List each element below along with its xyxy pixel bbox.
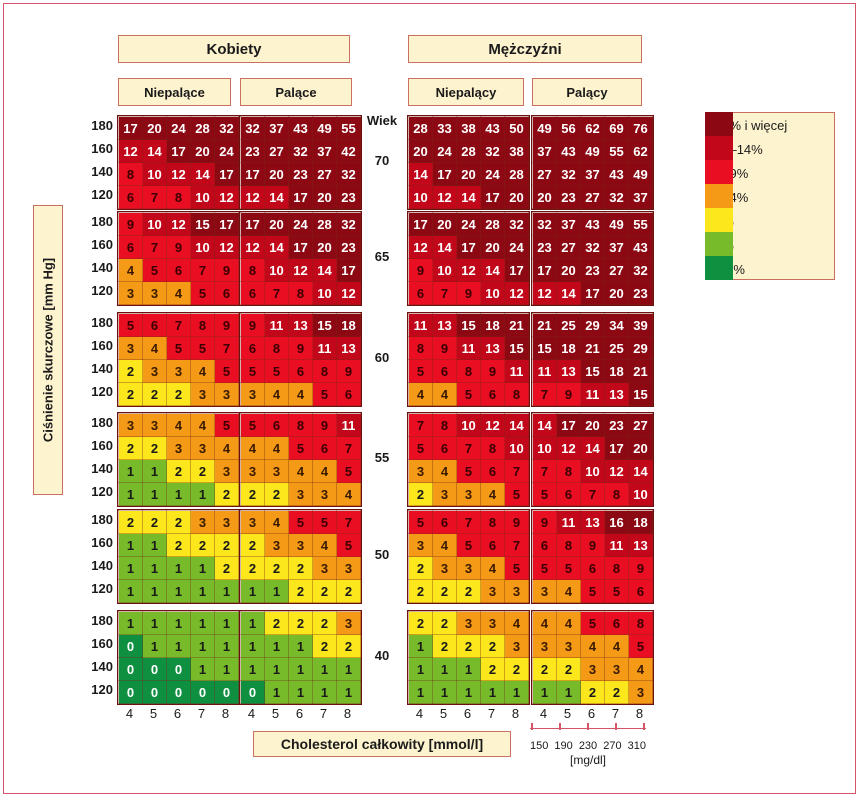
heatmap-row: 55689 [533, 557, 653, 580]
heatmap-cell: 0 [143, 681, 167, 704]
heatmap-cell: 2 [215, 483, 239, 506]
heatmap-cell: 7 [215, 337, 239, 360]
heatmap-cell: 10 [409, 186, 433, 209]
heatmap-row: 3237434955 [533, 213, 653, 236]
heatmap-cell: 14 [629, 460, 653, 483]
heatmap-cell: 2 [143, 383, 167, 406]
x-tick-6: 6 [166, 706, 189, 721]
heatmap-cell: 0 [167, 658, 191, 681]
heatmap-cell: 2 [119, 437, 143, 460]
heatmap-cell: 5 [337, 534, 361, 557]
heatmap-panel-men-smoking-age-50: 91113161868911135568934556 [531, 509, 654, 604]
legend-swatch-0 [705, 112, 733, 136]
heatmap-cell: 4 [265, 437, 289, 460]
heatmap-cell: 4 [581, 635, 605, 658]
heatmap-cell: 2 [167, 534, 191, 557]
x-tick-4: 4 [118, 706, 141, 721]
heatmap-cell: 12 [241, 186, 265, 209]
heatmap-cell: 27 [557, 236, 581, 259]
heatmap-cell: 5 [191, 337, 215, 360]
heatmap-cell: 2 [143, 511, 167, 534]
heatmap-cell: 6 [629, 580, 653, 603]
heatmap-cell: 4 [313, 460, 337, 483]
heatmap-cell: 1 [313, 658, 337, 681]
heatmap-cell: 0 [191, 681, 215, 704]
heatmap-cell: 5 [505, 557, 529, 580]
heatmap-cell: 7 [533, 383, 557, 406]
heatmap-cell: 8 [119, 163, 143, 186]
heatmap-cell: 6 [143, 314, 167, 337]
heatmap-cell: 4 [481, 557, 505, 580]
heatmap-row: 23345 [119, 360, 239, 383]
heatmap-row: 1720232732 [533, 259, 653, 282]
heatmap-cell: 27 [313, 163, 337, 186]
x-tick-6: 6 [580, 706, 603, 721]
heatmap-cell: 14 [581, 437, 605, 460]
heatmap-row: 6781012 [241, 282, 361, 305]
heatmap-cell: 10 [505, 437, 529, 460]
heatmap-cell: 5 [313, 383, 337, 406]
heatmap-cell: 6 [481, 534, 505, 557]
x-tick-5: 5 [142, 706, 165, 721]
heatmap-cell: 3 [289, 483, 313, 506]
y-tick-160: 160 [85, 636, 113, 651]
heatmap-cell: 1 [265, 580, 289, 603]
heatmap-cell: 9 [119, 213, 143, 236]
heatmap-cell: 5 [533, 557, 557, 580]
heatmap-cell: 6 [433, 437, 457, 460]
heatmap-cell: 5 [119, 314, 143, 337]
heatmap-cell: 1 [215, 635, 239, 658]
heatmap-cell: 8 [289, 282, 313, 305]
heatmap-cell: 1 [119, 557, 143, 580]
heatmap-cell: 8 [167, 186, 191, 209]
heatmap-cell: 3 [457, 483, 481, 506]
heatmap-cell: 1 [143, 483, 167, 506]
header-women: Kobiety [118, 35, 350, 63]
heatmap-cell: 2 [143, 437, 167, 460]
heatmap-cell: 62 [629, 140, 653, 163]
x-tick-7: 7 [312, 706, 335, 721]
x-tick-5: 5 [556, 706, 579, 721]
y-tick-140: 140 [85, 361, 113, 376]
heatmap-cell: 3 [605, 658, 629, 681]
heatmap-cell: 3 [313, 557, 337, 580]
heatmap-cell: 28 [505, 163, 529, 186]
heatmap-cell: 13 [481, 337, 505, 360]
heatmap-panel-men-nonsmoking-age-55: 781012145678103456723345 [407, 412, 530, 507]
heatmap-cell: 17 [167, 140, 191, 163]
heatmap-cell: 5 [605, 580, 629, 603]
heatmap-cell: 5 [409, 511, 433, 534]
heatmap-cell: 14 [409, 163, 433, 186]
heatmap-cell: 5 [241, 414, 265, 437]
heatmap-cell: 15 [533, 337, 557, 360]
heatmap-cell: 11 [533, 360, 557, 383]
heatmap-row: 1720242832 [119, 117, 239, 140]
heatmap-row: 1518212529 [533, 337, 653, 360]
heatmap-row: 1012141720 [409, 186, 529, 209]
heatmap-cell: 2 [215, 534, 239, 557]
heatmap-cell: 12 [409, 236, 433, 259]
heatmap-row: 23345 [409, 483, 529, 506]
heatmap-row: 44568 [409, 383, 529, 406]
heatmap-panel-women-nonsmoking-age-70: 172024283212141720248101214176781012 [117, 115, 240, 210]
heatmap-cell: 11 [605, 534, 629, 557]
heatmap-cell: 17 [289, 186, 313, 209]
heatmap-cell: 5 [505, 483, 529, 506]
heatmap-cell: 4 [265, 511, 289, 534]
heatmap-row: 22233 [241, 557, 361, 580]
heatmap-cell: 2 [265, 483, 289, 506]
heatmap-cell: 20 [557, 259, 581, 282]
heatmap-cell: 1 [409, 681, 433, 704]
heatmap-cell: 12 [167, 163, 191, 186]
heatmap-cell: 43 [289, 117, 313, 140]
heatmap-cell: 37 [581, 163, 605, 186]
heatmap-cell: 11 [265, 314, 289, 337]
heatmap-cell: 5 [629, 635, 653, 658]
heatmap-cell: 6 [481, 383, 505, 406]
heatmap-row: 910121417 [409, 259, 529, 282]
heatmap-cell: 27 [581, 186, 605, 209]
mgdl-tick-labels: 150190230270310 [530, 740, 646, 752]
age-label-50: 50 [363, 547, 401, 562]
y-tick-120: 120 [85, 581, 113, 596]
heatmap-cell: 7 [265, 282, 289, 305]
heatmap-cell: 28 [191, 117, 215, 140]
heatmap-cell: 3 [143, 360, 167, 383]
heatmap-cell: 13 [557, 360, 581, 383]
heatmap-cell: 3 [533, 635, 557, 658]
header-women-smoking: Palące [240, 78, 352, 106]
age-label-65: 65 [363, 249, 401, 264]
heatmap-cell: 3 [533, 580, 557, 603]
heatmap-cell: 8 [241, 259, 265, 282]
x-tick-4: 4 [240, 706, 263, 721]
y-tick-180: 180 [85, 214, 113, 229]
heatmap-cell: 2 [241, 483, 265, 506]
heatmap-cell: 10 [629, 483, 653, 506]
heatmap-row: 2327323743 [533, 236, 653, 259]
heatmap-cell: 6 [533, 534, 557, 557]
heatmap-row: 00011 [119, 658, 239, 681]
heatmap-cell: 17 [481, 186, 505, 209]
heatmap-cell: 2 [457, 580, 481, 603]
heatmap-row: 33456 [119, 282, 239, 305]
heatmap-panel-men-smoking-age-60: 21252934391518212529111315182179111315 [531, 312, 654, 407]
heatmap-cell: 13 [289, 314, 313, 337]
heatmap-cell: 32 [337, 213, 361, 236]
heatmap-cell: 18 [337, 314, 361, 337]
heatmap-cell: 28 [409, 117, 433, 140]
heatmap-cell: 17 [505, 259, 529, 282]
heatmap-cell: 17 [337, 259, 361, 282]
heatmap-cell: 10 [143, 163, 167, 186]
heatmap-cell: 24 [289, 213, 313, 236]
heatmap-cell: 43 [629, 236, 653, 259]
heatmap-cell: 2 [313, 580, 337, 603]
heatmap-cell: 6 [581, 557, 605, 580]
heatmap-cell: 3 [241, 460, 265, 483]
mgdl-tick-310: 310 [628, 740, 646, 752]
heatmap-cell: 11 [337, 414, 361, 437]
heatmap-cell: 11 [409, 314, 433, 337]
heatmap-cell: 23 [533, 236, 557, 259]
heatmap-cell: 33 [433, 117, 457, 140]
heatmap-cell: 8 [481, 511, 505, 534]
y-tick-140: 140 [85, 461, 113, 476]
heatmap-panel-men-smoking-age-40: 44568334452233411223 [531, 610, 654, 705]
heatmap-cell: 55 [337, 117, 361, 140]
heatmap-cell: 7 [143, 186, 167, 209]
heatmap-cell: 20 [605, 282, 629, 305]
heatmap-cell: 2 [241, 534, 265, 557]
heatmap-cell: 32 [337, 163, 361, 186]
heatmap-cell: 4 [629, 658, 653, 681]
heatmap-cell: 1 [167, 557, 191, 580]
header-men-nonsmoking: Niepalący [408, 78, 524, 106]
heatmap-cell: 9 [313, 414, 337, 437]
heatmap-cell: 23 [557, 186, 581, 209]
heatmap-cell: 2 [167, 460, 191, 483]
heatmap-row: 568911 [241, 414, 361, 437]
heatmap-cell: 6 [241, 282, 265, 305]
heatmap-cell: 5 [557, 557, 581, 580]
x-tick-7: 7 [604, 706, 627, 721]
heatmap-cell: 2 [337, 635, 361, 658]
heatmap-cell: 5 [457, 383, 481, 406]
heatmap-cell: 1 [143, 612, 167, 635]
heatmap-row: 1012141720 [533, 437, 653, 460]
heatmap-cell: 1 [409, 635, 433, 658]
heatmap-cell: 6 [215, 282, 239, 305]
heatmap-cell: 3 [581, 658, 605, 681]
heatmap-cell: 12 [119, 140, 143, 163]
heatmap-row: 2125293439 [533, 314, 653, 337]
heatmap-cell: 0 [241, 681, 265, 704]
heatmap-panel-men-nonsmoking-age-60: 11131518218911131556891144568 [407, 312, 530, 407]
heatmap-cell: 6 [337, 383, 361, 406]
heatmap-cell: 49 [605, 213, 629, 236]
y-tick-180: 180 [85, 613, 113, 628]
heatmap-cell: 7 [337, 437, 361, 460]
heatmap-row: 11122 [241, 635, 361, 658]
heatmap-row: 1214172023 [241, 236, 361, 259]
heatmap-cell: 7 [533, 460, 557, 483]
heatmap-row: 2833384350 [409, 117, 529, 140]
heatmap-row: 11122 [409, 658, 529, 681]
heatmap-row: 11223 [533, 681, 653, 704]
heatmap-cell: 4 [337, 483, 361, 506]
heatmap-row: 2024283238 [409, 140, 529, 163]
heatmap-cell: 32 [481, 140, 505, 163]
heatmap-cell: 32 [557, 163, 581, 186]
heatmap-cell: 3 [167, 437, 191, 460]
heatmap-cell: 4 [167, 282, 191, 305]
mgdl-scale: 150190230270310 [mg/dl] [530, 728, 646, 767]
heatmap-panel-women-smoking-age-65: 172024283212141720238101214176781012 [239, 211, 362, 306]
heatmap-row: 1214172024 [409, 236, 529, 259]
heatmap-cell: 76 [629, 117, 653, 140]
heatmap-cell: 5 [289, 437, 313, 460]
heatmap-cell: 17 [533, 259, 557, 282]
heatmap-cell: 6 [313, 437, 337, 460]
heatmap-row: 34567 [409, 460, 529, 483]
heatmap-cell: 3 [215, 460, 239, 483]
heatmap-cell: 37 [313, 140, 337, 163]
heatmap-cell: 9 [241, 314, 265, 337]
heatmap-cell: 20 [313, 236, 337, 259]
heatmap-panel-men-nonsmoking-age-65: 172024283212141720249101214176791012 [407, 211, 530, 306]
heatmap-cell: 12 [457, 259, 481, 282]
heatmap-cell: 0 [215, 681, 239, 704]
heatmap-cell: 2 [265, 612, 289, 635]
heatmap-cell: 32 [505, 213, 529, 236]
heatmap-cell: 43 [557, 140, 581, 163]
heatmap-cell: 8 [457, 360, 481, 383]
heatmap-cell: 1 [119, 612, 143, 635]
heatmap-row: 45679 [119, 259, 239, 282]
heatmap-cell: 8 [433, 414, 457, 437]
heatmap-cell: 17 [409, 213, 433, 236]
heatmap-cell: 1 [433, 658, 457, 681]
heatmap-cell: 4 [215, 437, 239, 460]
mgdl-tick-230: 230 [579, 740, 597, 752]
heatmap-cell: 4 [191, 414, 215, 437]
heatmap-row: 1113151821 [409, 314, 529, 337]
heatmap-cell: 3 [143, 282, 167, 305]
header-men-smoking: Palący [532, 78, 642, 106]
y-tick-120: 120 [85, 682, 113, 697]
heatmap-cell: 0 [119, 658, 143, 681]
heatmap-cell: 12 [533, 282, 557, 305]
heatmap-cell: 5 [265, 360, 289, 383]
heatmap-cell: 4 [119, 259, 143, 282]
heatmap-cell: 2 [313, 612, 337, 635]
heatmap-cell: 6 [433, 511, 457, 534]
heatmap-cell: 23 [337, 236, 361, 259]
mgdl-tickmark [615, 723, 617, 730]
heatmap-cell: 1 [143, 635, 167, 658]
legend-swatch-3 [705, 184, 733, 208]
heatmap-cell: 3 [505, 635, 529, 658]
heatmap-cell: 49 [581, 140, 605, 163]
heatmap-cell: 17 [289, 236, 313, 259]
heatmap-cell: 2 [409, 483, 433, 506]
heatmap-cell: 38 [457, 117, 481, 140]
heatmap-row: 12223 [409, 635, 529, 658]
heatmap-cell: 5 [409, 360, 433, 383]
heatmap-row: 34456 [241, 383, 361, 406]
heatmap-cell: 1 [191, 557, 215, 580]
y-tick-120: 120 [85, 384, 113, 399]
heatmap-cell: 23 [241, 140, 265, 163]
heatmap-cell: 2 [409, 612, 433, 635]
heatmap-cell: 1 [289, 635, 313, 658]
heatmap-row: 22233 [119, 511, 239, 534]
heatmap-cell: 3 [241, 383, 265, 406]
heatmap-cell: 0 [167, 681, 191, 704]
heatmap-cell: 1 [289, 658, 313, 681]
heatmap-cell: 1 [337, 681, 361, 704]
heatmap-row: 1214172024 [119, 140, 239, 163]
y-tick-160: 160 [85, 237, 113, 252]
heatmap-cell: 24 [433, 140, 457, 163]
heatmap-cell: 17 [433, 163, 457, 186]
age-label-60: 60 [363, 350, 401, 365]
legend-swatch-2 [705, 160, 733, 184]
heatmap-row: 1214172023 [241, 186, 361, 209]
heatmap-row: 22334 [409, 612, 529, 635]
heatmap-cell: 27 [265, 140, 289, 163]
heatmap-cell: 5 [241, 360, 265, 383]
heatmap-cell: 1 [167, 580, 191, 603]
x-tick-6: 6 [456, 706, 479, 721]
heatmap-panel-women-smoking-age-55: 568911445673344522334 [239, 412, 362, 507]
heatmap-row: 33445 [119, 414, 239, 437]
heatmap-cell: 17 [581, 282, 605, 305]
x-tick-7: 7 [480, 706, 503, 721]
heatmap-cell: 1 [191, 658, 215, 681]
heatmap-cell: 14 [557, 282, 581, 305]
heatmap-cell: 38 [505, 140, 529, 163]
heatmap-panel-men-smoking-age-70: 4956626976374349556227323743492023273237 [531, 115, 654, 210]
heatmap-cell: 6 [241, 337, 265, 360]
heatmap-cell: 20 [265, 163, 289, 186]
heatmap-cell: 24 [505, 236, 529, 259]
mgdl-tick-190: 190 [554, 740, 572, 752]
heatmap-row: 22334 [119, 437, 239, 460]
heatmap-cell: 21 [533, 314, 557, 337]
x-tick-5: 5 [264, 706, 287, 721]
heatmap-cell: 20 [481, 236, 505, 259]
heatmap-cell: 2 [481, 635, 505, 658]
heatmap-cell: 2 [581, 681, 605, 704]
heatmap-cell: 17 [119, 117, 143, 140]
heatmap-cell: 7 [581, 483, 605, 506]
heatmap-cell: 3 [265, 534, 289, 557]
x-tick-7: 7 [190, 706, 213, 721]
heatmap-cell: 14 [533, 414, 557, 437]
heatmap-panel-women-smoking-age-50: 34557233452223311222 [239, 509, 362, 604]
heatmap-cell: 2 [409, 557, 433, 580]
heatmap-cell: 13 [337, 337, 361, 360]
heatmap-row: 810121417 [241, 259, 361, 282]
heatmap-cell: 3 [457, 557, 481, 580]
mgdl-tickmark [643, 723, 645, 730]
heatmap-cell: 21 [505, 314, 529, 337]
heatmap-cell: 4 [557, 580, 581, 603]
heatmap-cell: 15 [629, 383, 653, 406]
heatmap-cell: 4 [433, 460, 457, 483]
heatmap-cell: 3 [215, 383, 239, 406]
y-tick-160: 160 [85, 438, 113, 453]
heatmap-cell: 5 [581, 612, 605, 635]
heatmap-cell: 5 [581, 580, 605, 603]
heatmap-cell: 50 [505, 117, 529, 140]
heatmap-cell: 21 [629, 360, 653, 383]
y-tick-160: 160 [85, 338, 113, 353]
heatmap-cell: 1 [481, 681, 505, 704]
heatmap-cell: 0 [143, 658, 167, 681]
heatmap-row: 34557 [119, 337, 239, 360]
heatmap-cell: 15 [505, 337, 529, 360]
heatmap-cell: 1 [265, 635, 289, 658]
heatmap-cell: 4 [241, 437, 265, 460]
heatmap-cell: 4 [605, 635, 629, 658]
heatmap-cell: 2 [289, 580, 313, 603]
